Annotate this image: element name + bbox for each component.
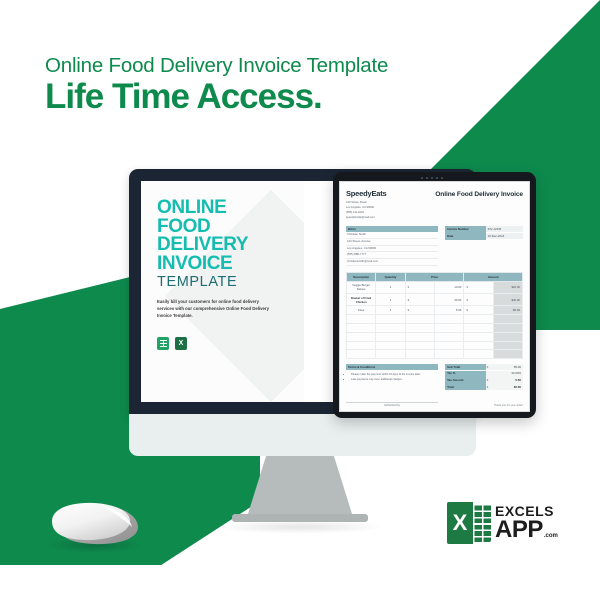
cell-amount-currency [464,315,493,324]
totals-block: Sub Total $ 55.00 Tax % 10.00% Tax Amoun… [445,364,523,391]
spreadsheet-icon [473,504,491,542]
table-row [347,350,523,359]
cell-price-currency [405,350,434,359]
cell-quantity: 1 [376,306,405,315]
cell-description: Basket of Fried Chicken [347,294,376,306]
invoice-date-value: 10-Dec-2024 [486,233,523,240]
logo-wordmark: EXCELS APP .com [495,504,558,542]
column-amount: Amount [464,272,523,281]
invoice-brand: SpeedyEats [346,189,387,198]
logo-line-2: APP .com [495,518,558,542]
cell-amount [493,332,522,341]
total-label: Total [445,384,485,390]
cell-price [434,323,463,332]
logo-app-text: APP [495,518,543,542]
signature-label: Authorized by [346,404,438,407]
total-row-subtotal: Sub Total $ 55.00 [445,364,523,370]
cell-price [434,341,463,350]
invoice-number-value: INV-12345 [486,226,523,233]
cell-amount [493,350,522,359]
table-row: Basket of Fried Chicken 1 $ 30.00 $ $30.… [347,294,523,306]
cell-quantity [376,323,405,332]
tablet-camera-dots [421,176,449,179]
cell-amount [493,341,522,350]
cell-description: Veggie Burger Deluxe [347,281,376,293]
cell-amount: $30.00 [493,294,522,306]
terms-item: Late payments may incur additional charg… [351,377,438,382]
cell-price-currency [405,341,434,350]
cell-price-currency [405,323,434,332]
subtotal-label: Sub Total [445,364,485,370]
cell-amount-currency: $ [464,306,493,315]
cell-price [434,315,463,324]
cell-description: Fries [347,306,376,315]
promo-description: Easily bill your customers for online fo… [157,299,273,320]
logo-mark: X [447,502,491,544]
cell-quantity [376,341,405,350]
bill-to-lines: Christian Smith 120 Street, Avenue Los A… [346,232,438,266]
subtotal-value: 55.00 [492,364,523,370]
cell-quantity: 2 [376,281,405,293]
column-description: Description [347,272,376,281]
promo-heading: ONLINE FOOD DELIVERY INVOICE [157,199,304,273]
cell-amount-currency [464,350,493,359]
cell-price [434,332,463,341]
invoice-document: SpeedyEats 100 Street, Road Los Angeles,… [339,181,530,412]
bill-to-line: Los Angeles, CA 90000 [346,246,438,253]
cell-price: 10.00 [434,281,463,293]
cell-amount-currency [464,323,493,332]
cell-description [347,350,376,359]
total-row-total: Total $ 60.50 [445,384,523,390]
excel-icon [175,337,187,350]
promo-app-icons [157,337,304,350]
stand-shadow [214,520,386,534]
cell-quantity [376,332,405,341]
headline-title: Life Time Access. [45,77,388,116]
cell-amount [493,323,522,332]
tax-amount-label: Tax Amount [445,377,485,383]
tax-amount-value: 5.50 [492,377,523,383]
invoice-parties: Bill to Christian Smith 120 Street, Aven… [346,226,523,266]
column-price: Price [405,272,464,281]
table-header-row: Description Quantity Price Amount [347,272,523,281]
cell-price-currency [405,315,434,324]
table-row: Veggie Burger Deluxe 2 $ 10.00 $ $20.00 [347,281,523,293]
promo-template-word: TEMPLATE [157,275,304,290]
table-row [347,315,523,324]
cell-amount-currency [464,341,493,350]
invoice-sender-address: 100 Street, Road Los Angeles, CA 90000 (… [346,200,387,220]
excels-app-logo: X EXCELS APP .com [447,502,558,544]
cell-price-currency [405,332,434,341]
tablet-device: SpeedyEats 100 Street, Road Los Angeles,… [333,172,536,418]
tax-percent-value: 10.00% [492,371,523,377]
cell-price: 30.00 [434,294,463,306]
table-row [347,332,523,341]
bill-to-line: christiansmith@mail.com [346,259,438,266]
terms-list: Please make the payment within 15 days o… [346,372,438,382]
cell-description [347,315,376,324]
cell-price [434,350,463,359]
invoice-footer: Terms & Conditions Please make the payme… [346,364,523,391]
table-row: Fries 1 $ 5.00 $ $5.00 [347,306,523,315]
tax-percent-label: Tax % [445,371,485,377]
cell-quantity [376,315,405,324]
invoice-meta-block: Invoice Number INV-12345 Date 10-Dec-202… [445,226,523,266]
cell-amount-currency: $ [464,281,493,293]
google-sheets-icon [157,337,169,350]
cell-amount: $5.00 [493,306,522,315]
cell-price-currency: $ [405,281,434,293]
headline-subtitle: Online Food Delivery Invoice Template [45,56,388,77]
cell-price-currency: $ [405,294,434,306]
bill-to-line: Christian Smith [346,232,438,239]
promo-heading-line-4: INVOICE [157,255,304,274]
excel-x-icon: X [447,502,473,544]
bill-to-block: Bill to Christian Smith 120 Street, Aven… [346,226,438,266]
poster-canvas: Online Food Delivery Invoice Template Li… [0,0,600,600]
invoice-date-label: Date [445,233,485,240]
headline-block: Online Food Delivery Invoice Template Li… [45,56,388,116]
cell-quantity [376,350,405,359]
promo-heading-line-1: ONLINE [157,199,304,218]
total-row-tax-amount: Tax Amount $ 5.50 [445,377,523,383]
cell-amount-currency [464,332,493,341]
thank-you-note: Thank you for your order! [494,404,523,407]
total-row-tax-percent: Tax % 10.00% [445,371,523,377]
monitor-stand [247,456,353,517]
monitor-stand-base [232,514,368,522]
table-row [347,341,523,350]
invoice-meta-row: Invoice Number INV-12345 [445,226,523,233]
bill-to-line: 120 Street, Avenue [346,239,438,246]
cell-amount: $20.00 [493,281,522,293]
invoice-meta-row: Date 10-Dec-2024 [445,233,523,240]
invoice-title: Online Food Delivery Invoice [435,189,523,198]
cell-amount [493,315,522,324]
signature-line: Authorized by [346,402,438,408]
table-row [347,323,523,332]
terms-label: Terms & Conditions [346,364,438,370]
column-quantity: Quantity [376,272,405,281]
cell-description [347,323,376,332]
cell-price-currency: $ [405,306,434,315]
invoice-number-label: Invoice Number [445,226,485,233]
logo-dotcom: .com [544,533,558,539]
cell-quantity: 1 [376,294,405,306]
bill-to-line: (555) 888-7777 [346,252,438,259]
promo-panel: ONLINE FOOD DELIVERY INVOICE TEMPLATE Ea… [141,181,304,402]
sender-address-line: speedyfoods@mail.com [346,215,387,220]
invoice-items-table: Description Quantity Price Amount Veggie… [346,272,523,359]
cell-amount-currency: $ [464,294,493,306]
cell-price: 5.00 [434,306,463,315]
monitor-chin [129,414,476,456]
total-value: 60.50 [492,384,523,390]
cell-description [347,332,376,341]
computer-mouse [38,499,148,555]
cell-description [347,341,376,350]
invoice-header: SpeedyEats 100 Street, Road Los Angeles,… [346,189,523,220]
terms-block: Terms & Conditions Please make the payme… [346,364,438,391]
